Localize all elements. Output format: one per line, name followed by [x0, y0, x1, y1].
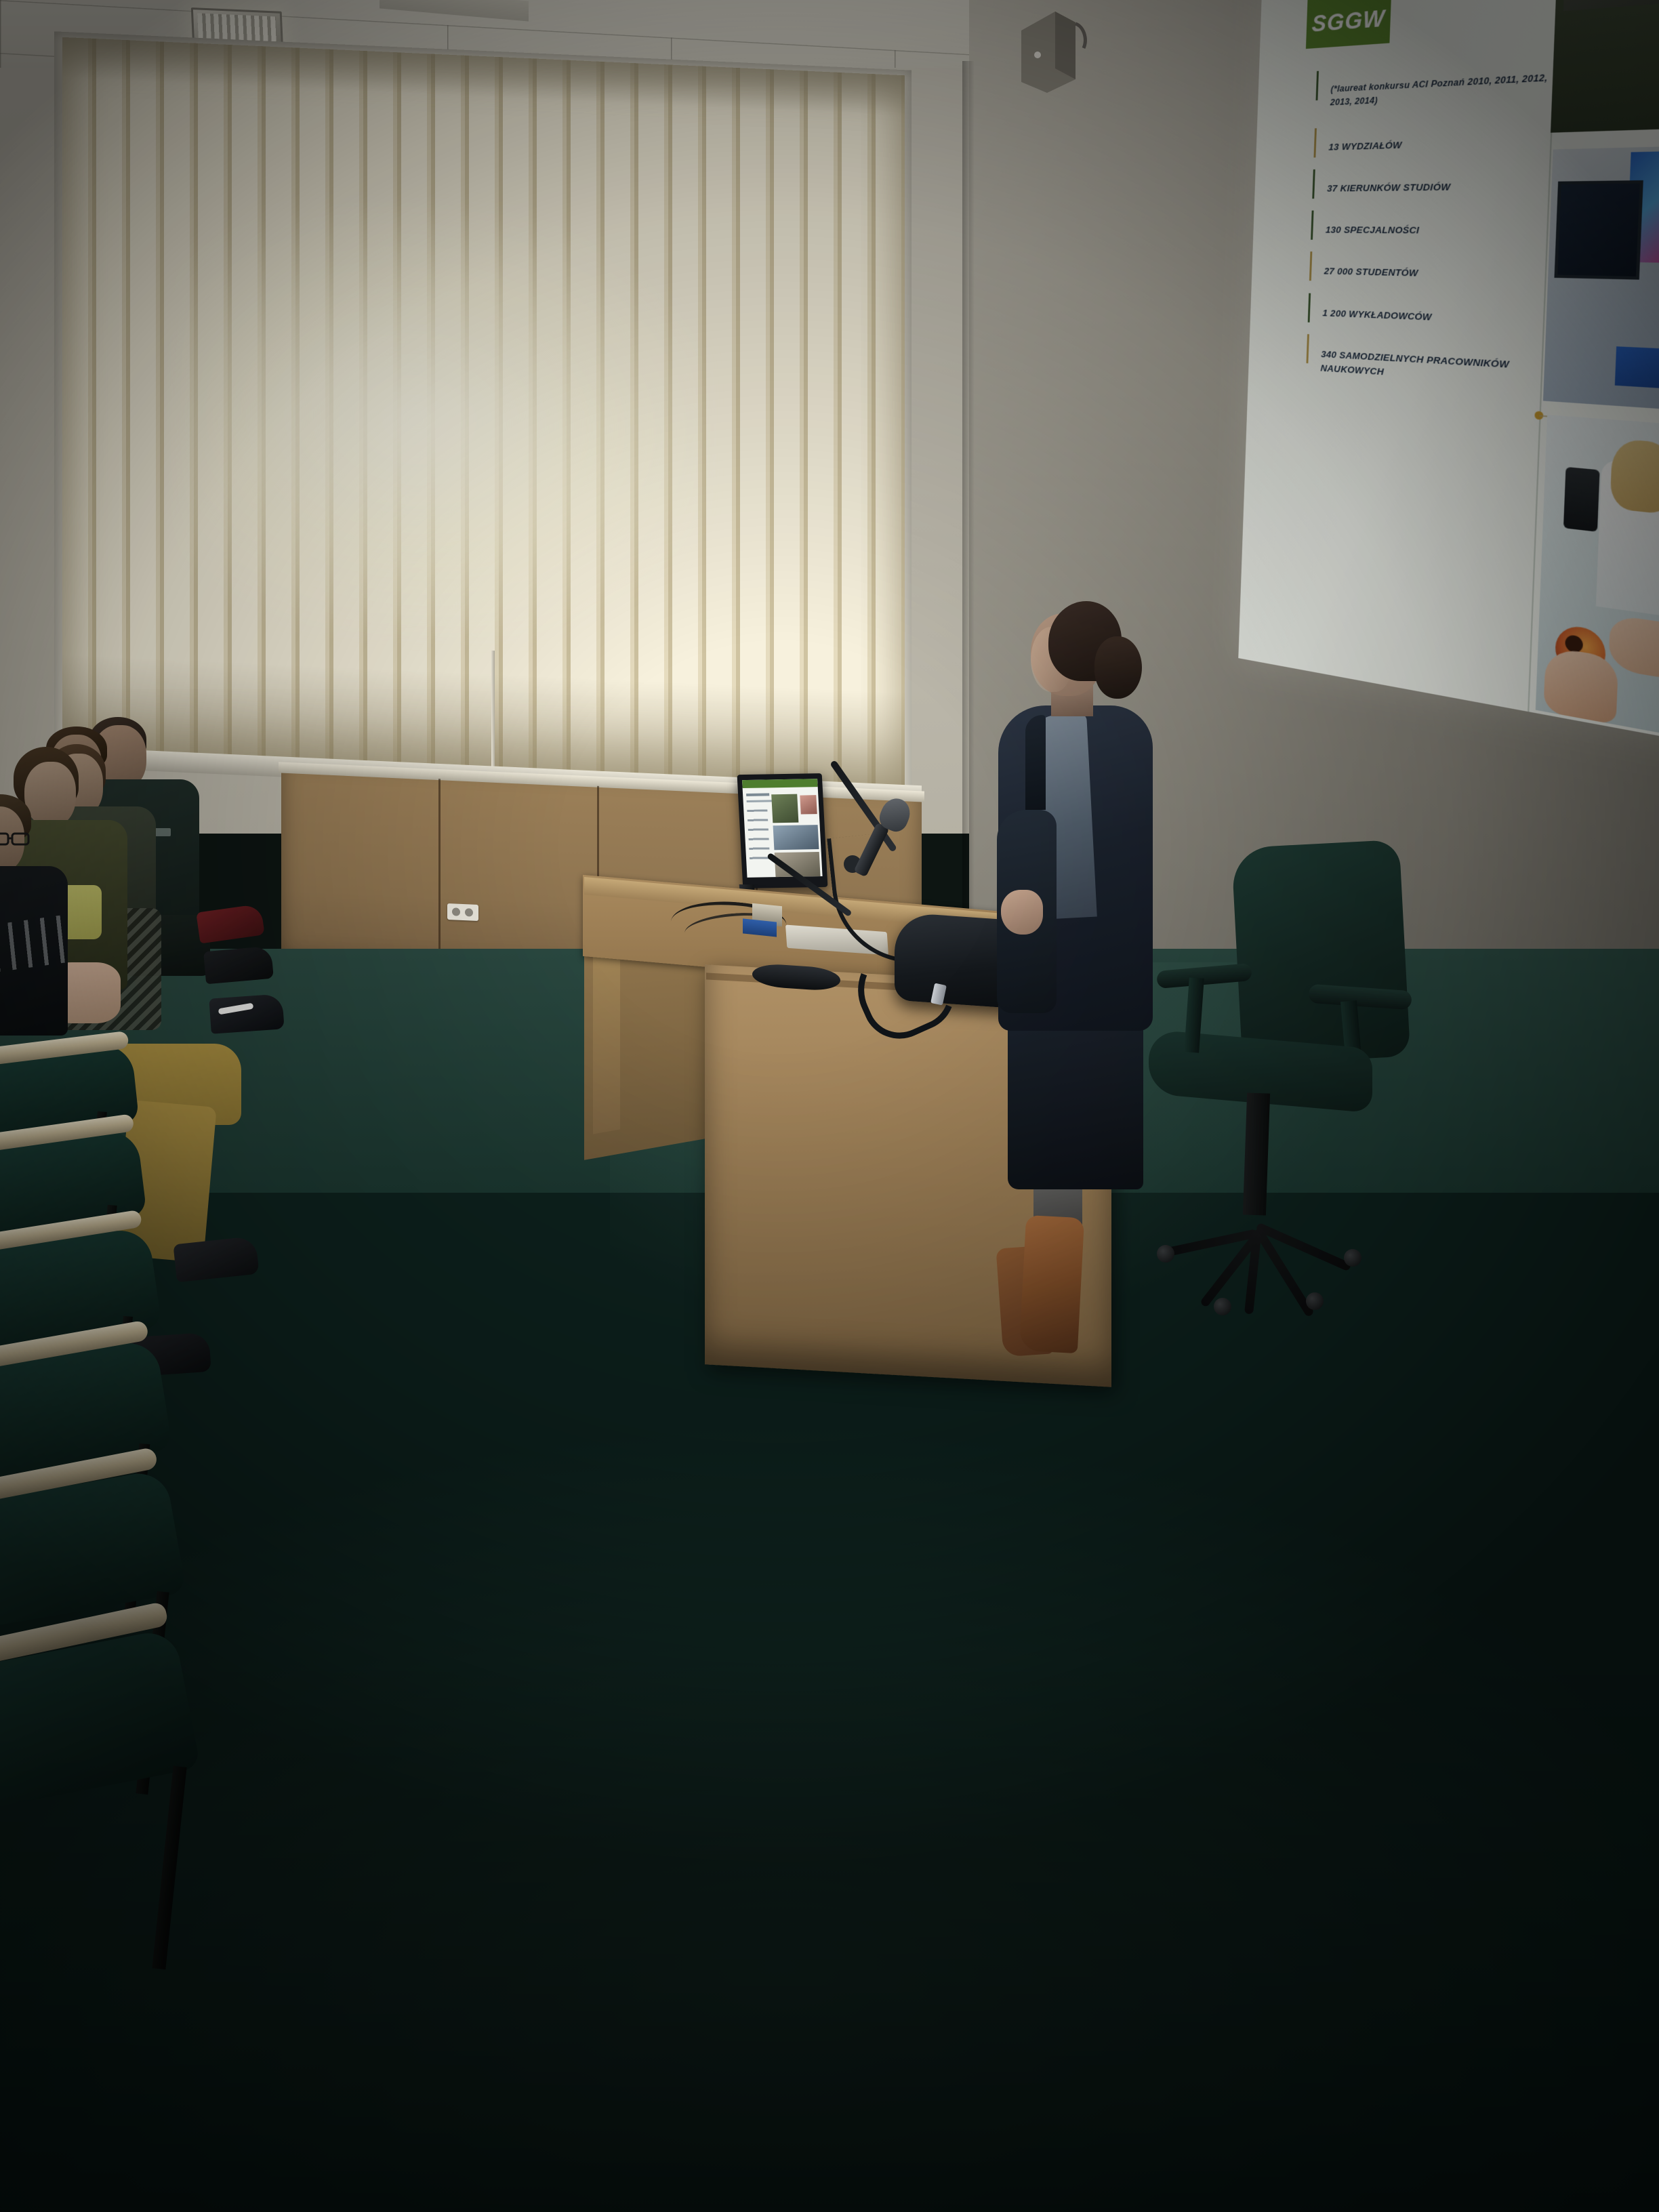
sggw-logo-text: SGGW [1311, 5, 1385, 49]
presenter-hand [1001, 890, 1043, 935]
window [54, 31, 912, 798]
laboratory-photo [1536, 415, 1659, 745]
window-glow [180, 201, 703, 641]
slide-bullet: 13 WYDZIAŁÓW [1311, 133, 1565, 155]
presenter-skirt [1008, 1006, 1143, 1189]
presenter-boot-front [1019, 1215, 1084, 1353]
computer-lab-photo [1543, 144, 1659, 415]
wall-speaker-icon [1008, 3, 1096, 98]
glasses-icon [0, 831, 34, 848]
power-outlet-icon[interactable] [447, 903, 478, 921]
auditorium-seating [0, 1037, 393, 1850]
slide-bullet: 1 200 WYKŁADOWCÓW [1305, 305, 1557, 329]
office-chair[interactable] [1128, 844, 1413, 1332]
campus-building-photo [1551, 0, 1659, 133]
dark-shoe [203, 946, 274, 985]
slide-bullet: 340 SAMODZIELNYCH PRACOWNIKÓW NAUKOWYCH [1303, 346, 1556, 390]
slide-bullet: (*laureat konkursu ACI Poznań 2010, 2011… [1313, 70, 1568, 110]
sggw-logo: SGGW [1306, 0, 1393, 49]
slide-bullet-list: (*laureat konkursu ACI Poznań 2010, 2011… [1303, 70, 1568, 420]
presenter-lapel [1025, 715, 1046, 810]
red-shoe [196, 904, 264, 944]
chair-gas-cylinder [1243, 1092, 1270, 1215]
chair-base [1155, 1202, 1379, 1303]
slide-surface: SGGW I KREATYWNA UCZELNIA W POLSCE* (*la… [1238, 0, 1659, 745]
vertical-blinds[interactable] [62, 37, 905, 794]
slide-bullet: 27 000 STUDENTÓW [1307, 264, 1559, 285]
presentation-monitor[interactable] [737, 773, 828, 888]
projected-slide: SGGW I KREATYWNA UCZELNIA W POLSCE* (*la… [1238, 0, 1659, 745]
presenter-hair-bun [1094, 636, 1142, 699]
slide-bullet: 37 KIERUNKÓW STUDIÓW [1310, 178, 1563, 196]
slide-bullet: 130 SPECJALNOŚCI [1308, 223, 1561, 239]
lecture-room-scene: SGGW I KREATYWNA UCZELNIA W POLSCE* (*la… [0, 0, 1659, 2212]
chair-backrest [1231, 840, 1410, 1065]
